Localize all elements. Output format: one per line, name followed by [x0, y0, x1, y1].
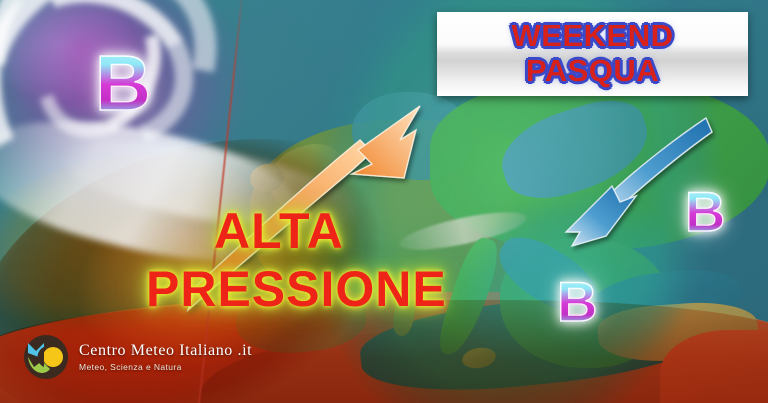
high-pressure-label: ALTA PRESSIONE — [146, 206, 566, 314]
banner-line-weekend: WEEKEND — [512, 20, 674, 53]
high-pressure-label-line1: ALTA — [214, 206, 566, 256]
site-logo[interactable]: Centro Meteo Italiano .it Meteo, Scienza… — [22, 333, 252, 381]
logo-text-block: Centro Meteo Italiano .it Meteo, Scienza… — [79, 343, 252, 372]
weather-map-graphic: B B B B B B ALTA PRESSIONE WEEKEND PASQU… — [0, 0, 768, 403]
logo-subtitle: Meteo, Scienza e Natura — [79, 363, 252, 372]
logo-title: Centro Meteo Italiano .it — [79, 343, 252, 359]
headline-banner: WEEKEND PASQUA — [437, 12, 748, 96]
low-marker-eastern-europe: B — [685, 184, 725, 240]
low-marker-atlantic: B — [95, 44, 151, 122]
banner-line-pasqua: PASQUA — [526, 55, 659, 88]
centro-meteo-italiano-logo-icon — [22, 333, 70, 381]
high-pressure-label-line2: PRESSIONE — [146, 264, 566, 314]
